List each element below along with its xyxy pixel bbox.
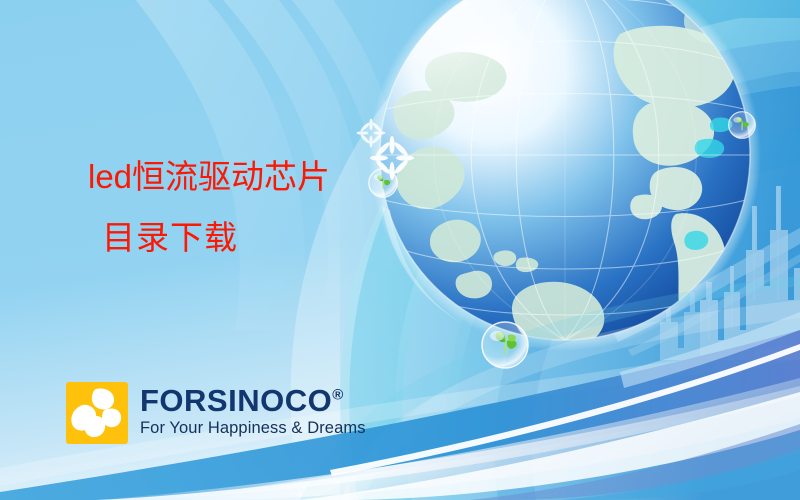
headline-block: led恒流驱动芯片 目录下载 bbox=[88, 160, 330, 256]
bubble-with-green-sprout-top-right bbox=[729, 112, 756, 139]
registered-trademark-symbol: ® bbox=[332, 387, 343, 404]
headline-line-1-cjk: 恒流驱动芯片 bbox=[132, 160, 330, 196]
banner-slide: led恒流驱动芯片 目录下载 FORSINOCO® For Your Happ bbox=[0, 0, 800, 500]
brand-name: FORSINOCO® bbox=[140, 385, 366, 416]
brand-tagline: For Your Happiness & Dreams bbox=[140, 419, 366, 438]
headline-line-2: 目录下载 bbox=[102, 223, 330, 256]
forsinoco-pinwheel-mark-icon bbox=[66, 382, 128, 444]
headline-line-1-latin: led bbox=[88, 158, 132, 195]
bubble-with-green-sprout bbox=[482, 322, 528, 368]
headline-line-1: led恒流驱动芯片 bbox=[88, 160, 330, 195]
forsinoco-logo[interactable]: FORSINOCO® For Your Happiness & Dreams bbox=[66, 382, 366, 444]
bubble-with-green-sprout-small bbox=[369, 169, 398, 198]
logo-wordmark: FORSINOCO® For Your Happiness & Dreams bbox=[140, 382, 366, 438]
brand-name-text: FORSINOCO bbox=[140, 383, 332, 418]
